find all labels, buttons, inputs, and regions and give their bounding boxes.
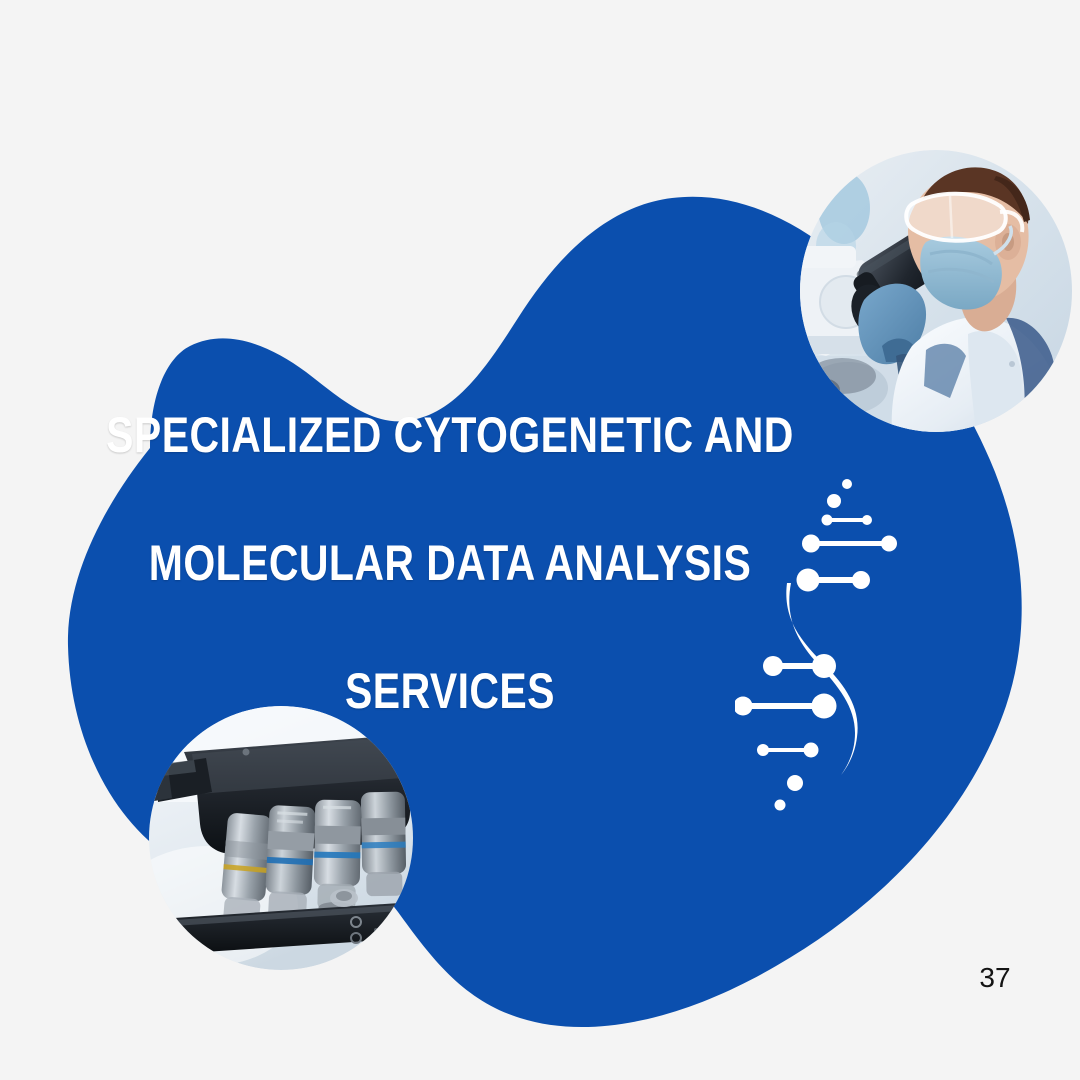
headline-line-2: MOLECULAR DATA ANALYSIS (81, 538, 819, 588)
headline-line-3: SERVICES (81, 666, 819, 716)
dna-rung-6 (757, 743, 819, 758)
scientist-photo-content (800, 150, 1072, 432)
scientist-photo-svg (800, 150, 1072, 432)
slide-canvas: SPECIALIZED CYTOGENETIC AND MOLECULAR DA… (0, 0, 1080, 1080)
objectives-photo-content (148, 706, 414, 970)
dna-dot-top-small (842, 479, 852, 489)
headline-line-1: SPECIALIZED CYTOGENETIC AND (81, 410, 819, 460)
dna-dot-top-medium (827, 494, 841, 508)
dna-dot-bottom-small (775, 800, 786, 811)
page-title: SPECIALIZED CYTOGENETIC AND MOLECULAR DA… (81, 410, 819, 716)
dna-rung-1 (822, 515, 873, 526)
page-number: 37 (960, 962, 1030, 994)
microscope-objective-lenses-photo (148, 706, 414, 970)
scientist-at-microscope-photo (800, 150, 1072, 432)
dna-dot-bottom-medium (787, 775, 803, 791)
objectives-photo-svg (148, 706, 414, 970)
